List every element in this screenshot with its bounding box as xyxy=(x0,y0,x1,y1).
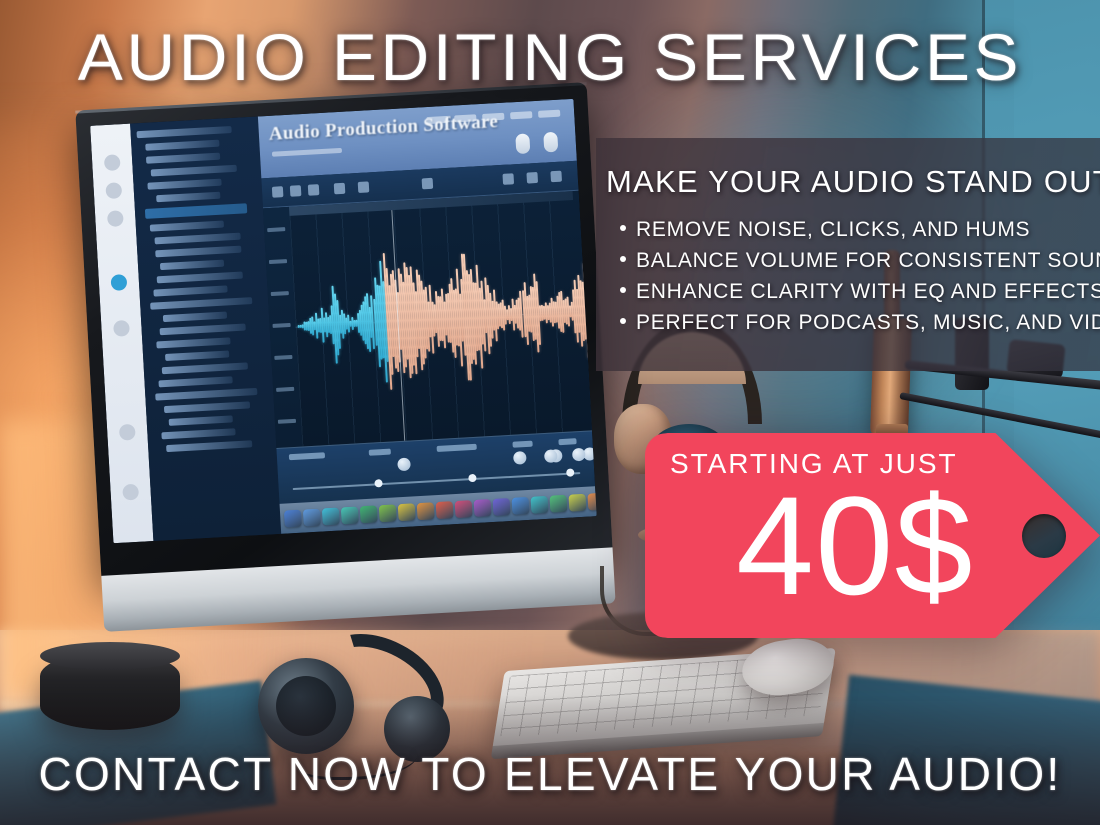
dock-icon[interactable] xyxy=(493,498,511,516)
tree-item[interactable] xyxy=(160,324,246,336)
tree-item[interactable] xyxy=(150,297,252,310)
dock-icon[interactable] xyxy=(587,492,596,510)
dock-icon[interactable] xyxy=(436,501,454,519)
imac-screen: Audio Production Software xyxy=(90,99,597,543)
dock-icon[interactable] xyxy=(322,507,340,525)
apple-logo-icon xyxy=(348,577,368,600)
tree-item[interactable] xyxy=(146,153,221,164)
benefits-panel: MAKE YOUR AUDIO STAND OUT REMOVE NOISE, … xyxy=(596,138,1100,371)
poster-canvas: Audio Production Software xyxy=(0,0,1100,825)
dock-icon[interactable] xyxy=(303,508,321,526)
rail-avatar-icon[interactable] xyxy=(122,484,139,501)
dock-icon[interactable] xyxy=(360,505,378,523)
speaker-top-face xyxy=(40,642,180,670)
toolbar-icon-export[interactable] xyxy=(526,172,538,184)
tree-item[interactable] xyxy=(150,221,225,232)
tree-item[interactable] xyxy=(162,362,248,374)
tree-item[interactable] xyxy=(160,260,224,271)
tree-item[interactable] xyxy=(145,140,220,151)
toolbar-icon-marker[interactable] xyxy=(422,178,434,190)
toolbar-icon-share[interactable] xyxy=(502,173,514,185)
tree-item[interactable] xyxy=(151,165,237,177)
mixer-label xyxy=(512,441,532,448)
rail-icon-1[interactable] xyxy=(104,154,121,171)
titlebar-chip[interactable] xyxy=(538,110,560,118)
tree-item[interactable] xyxy=(137,126,232,138)
tree-item[interactable] xyxy=(156,337,231,348)
bullet-dot-icon xyxy=(620,318,626,324)
tree-item[interactable] xyxy=(157,272,243,284)
axis-tick xyxy=(269,259,287,264)
benefit-item: BALANCE VOLUME FOR CONSISTENT SOUND xyxy=(620,247,1090,275)
tree-item[interactable] xyxy=(153,285,228,296)
dock-icon[interactable] xyxy=(531,495,549,513)
tree-item[interactable] xyxy=(164,401,250,413)
slider-handle[interactable] xyxy=(468,474,476,482)
tree-item[interactable] xyxy=(165,350,229,361)
tree-item[interactable] xyxy=(166,440,252,452)
benefits-list: REMOVE NOISE, CLICKS, AND HUMSBALANCE VO… xyxy=(620,216,1090,340)
bullet-dot-icon xyxy=(620,287,626,293)
waveform-bars[interactable] xyxy=(291,191,584,446)
dock-icon[interactable] xyxy=(455,500,473,518)
tree-item[interactable] xyxy=(155,246,241,258)
slider-handle[interactable] xyxy=(374,479,382,487)
rail-icon-active[interactable] xyxy=(111,274,128,291)
footer-cta: CONTACT NOW TO ELEVATE YOUR AUDIO! xyxy=(0,747,1100,801)
dock-icon[interactable] xyxy=(474,499,492,517)
tree-item[interactable] xyxy=(147,179,222,190)
titlebar-knob-left[interactable] xyxy=(515,133,530,154)
tree-item[interactable] xyxy=(155,388,257,401)
dock-icon[interactable] xyxy=(568,493,586,511)
bullet-dot-icon xyxy=(620,225,626,231)
mixer-knob-gain[interactable] xyxy=(397,458,411,472)
rail-icon-4[interactable] xyxy=(113,320,130,337)
benefit-item: ENHANCE CLARITY WITH EQ AND EFFECTS xyxy=(620,278,1090,306)
toolbar-icon-settings[interactable] xyxy=(550,171,562,183)
tree-item[interactable] xyxy=(169,415,233,426)
tree-item[interactable] xyxy=(161,428,236,439)
dock-icon[interactable] xyxy=(398,503,416,521)
benefit-label: PERFECT FOR PODCASTS, MUSIC, AND VIDEOS xyxy=(636,309,1100,337)
tree-item-selected[interactable] xyxy=(145,203,247,219)
mixer-label xyxy=(558,438,576,445)
price-tag-amount: 40$ xyxy=(655,471,1055,621)
toolbar-icon-zoom[interactable] xyxy=(308,184,320,196)
app-subtitle-bar xyxy=(272,148,342,157)
benefit-label: BALANCE VOLUME FOR CONSISTENT SOUND xyxy=(636,247,1100,275)
audio-software-window: Audio Production Software xyxy=(90,99,597,543)
benefit-item: PERFECT FOR PODCASTS, MUSIC, AND VIDEOS xyxy=(620,309,1090,337)
slider-handle[interactable] xyxy=(566,468,574,476)
app-main-area: Audio Production Software xyxy=(258,99,597,534)
axis-tick xyxy=(276,387,294,392)
dock-icon[interactable] xyxy=(512,496,530,514)
axis-tick xyxy=(272,323,290,328)
dock-icon[interactable] xyxy=(549,494,567,512)
tree-item[interactable] xyxy=(163,312,227,323)
dock-icon[interactable] xyxy=(284,509,302,527)
project-file-tree[interactable] xyxy=(130,116,281,540)
dock-icon[interactable] xyxy=(379,504,397,522)
toolbar-icon-fade[interactable] xyxy=(334,183,346,195)
studio-photo-background: Audio Production Software xyxy=(0,0,1100,825)
toolbar-icon-cursor[interactable] xyxy=(272,186,284,198)
mixer-label xyxy=(437,444,477,452)
toolbar-icon-record[interactable] xyxy=(358,181,370,193)
toolbar-icon-cut[interactable] xyxy=(290,185,302,197)
axis-tick xyxy=(271,291,289,296)
axis-tick xyxy=(274,355,292,360)
price-tag-badge[interactable]: STARTING AT JUST 40$ xyxy=(645,433,1100,638)
tree-item[interactable] xyxy=(158,376,233,387)
panel-heading: MAKE YOUR AUDIO STAND OUT xyxy=(606,164,1100,200)
mixer-knob-eq[interactable] xyxy=(513,451,527,465)
mixer-knob-output[interactable] xyxy=(572,448,586,462)
rail-icon-3[interactable] xyxy=(107,210,124,227)
rail-icon-2[interactable] xyxy=(105,182,122,199)
tree-item[interactable] xyxy=(154,233,240,245)
titlebar-chip[interactable] xyxy=(454,114,476,122)
benefit-label: REMOVE NOISE, CLICKS, AND HUMS xyxy=(636,216,1030,244)
page-title: AUDIO EDITING SERVICES xyxy=(0,20,1100,94)
axis-tick xyxy=(278,419,296,424)
imac-display: Audio Production Software xyxy=(75,82,612,580)
tree-item[interactable] xyxy=(156,192,220,203)
waveform-editor[interactable] xyxy=(263,191,592,448)
benefit-label: ENHANCE CLARITY WITH EQ AND EFFECTS xyxy=(636,278,1100,306)
bullet-dot-icon xyxy=(620,256,626,262)
mixer-label xyxy=(289,452,325,460)
dock-icon[interactable] xyxy=(417,502,435,520)
benefit-item: REMOVE NOISE, CLICKS, AND HUMS xyxy=(620,216,1090,244)
titlebar-chip[interactable] xyxy=(482,113,504,121)
titlebar-knob-right[interactable] xyxy=(543,132,558,153)
titlebar-chip[interactable] xyxy=(510,111,532,119)
dock-icon[interactable] xyxy=(341,506,359,524)
mixer-timeline-slider[interactable] xyxy=(293,472,581,490)
rail-icon-5[interactable] xyxy=(119,424,136,441)
titlebar-chip[interactable] xyxy=(426,116,448,124)
mixer-label xyxy=(369,449,391,456)
axis-tick xyxy=(267,227,285,232)
